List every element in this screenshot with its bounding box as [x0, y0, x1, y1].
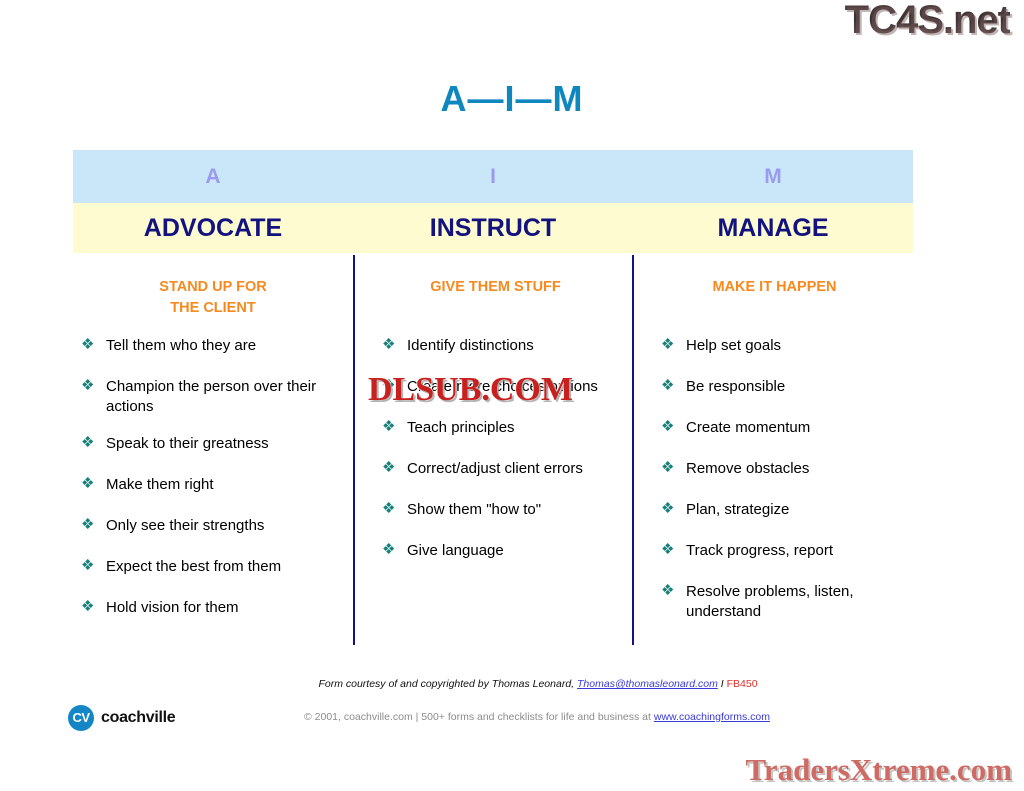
column-instruct-subheading-line1: GIVE THEM STUFF [359, 277, 632, 298]
list-item: ❖Hold vision for them [81, 598, 353, 618]
list-item-label: Expect the best from them [106, 558, 281, 575]
list-item: ❖Create momentum [661, 418, 911, 438]
footer-legal-text: © 2001, coachville.com | 500+ forms and … [304, 711, 654, 723]
list-item: ❖Plan, strategize [661, 500, 911, 520]
footer-credit-separator: I [718, 678, 727, 690]
footer-email-link[interactable]: Thomas@thomasleonard.com [577, 678, 718, 690]
footer-credit: Form courtesy of and copyrighted by Thom… [0, 678, 1024, 690]
diamond-bullet-icon: ❖ [661, 499, 674, 519]
diamond-bullet-icon: ❖ [81, 597, 94, 617]
banner-letter-m: M [633, 150, 913, 203]
list-item: ❖Be responsible [661, 377, 911, 397]
list-item-label: Create more choices/options [407, 378, 598, 395]
list-item-label: Show them "how to" [407, 501, 541, 518]
banner-word-instruct: INSTRUCT [353, 203, 633, 253]
watermark-tradersxtreme: TradersXtreme.com [745, 752, 1012, 788]
diamond-bullet-icon: ❖ [81, 376, 94, 396]
diamond-bullet-icon: ❖ [81, 556, 94, 576]
list-item-label: Champion the person over their actions [106, 378, 316, 415]
banner-letter-a: A [73, 150, 353, 203]
footer-credit-text: Form courtesy of and copyrighted by Thom… [318, 678, 577, 690]
list-item-label: Plan, strategize [686, 501, 789, 518]
coachville-logo: CV coachville [68, 705, 175, 731]
diamond-bullet-icon: ❖ [382, 417, 395, 437]
column-advocate-subheading: STAND UP FOR THE CLIENT [73, 255, 353, 319]
list-item-label: Teach principles [407, 419, 515, 436]
list-item: ❖Create more choices/options [382, 377, 632, 397]
list-item: ❖Tell them who they are [81, 336, 353, 356]
list-item-label: Track progress, report [686, 542, 833, 559]
column-manage-subheading: MAKE IT HAPPEN [634, 255, 911, 298]
list-item: ❖Teach principles [382, 418, 632, 438]
list-item-label: Make them right [106, 476, 214, 493]
diamond-bullet-icon: ❖ [661, 458, 674, 478]
site-brand-tc4s: TC4S.net [845, 0, 1010, 43]
list-item: ❖Give language [382, 541, 632, 561]
list-item: ❖Make them right [81, 475, 353, 495]
list-item-label: Identify distinctions [407, 337, 534, 354]
coachville-wordmark: coachville [101, 709, 175, 727]
diamond-bullet-icon: ❖ [81, 515, 94, 535]
list-item-label: Hold vision for them [106, 599, 239, 616]
banner-word-advocate: ADVOCATE [73, 203, 353, 253]
diamond-bullet-icon: ❖ [382, 499, 395, 519]
column-manage: MAKE IT HAPPEN ❖Help set goals ❖Be respo… [632, 255, 911, 645]
diamond-bullet-icon: ❖ [382, 376, 395, 396]
diamond-bullet-icon: ❖ [661, 376, 674, 396]
banner-letters-row: A I M [73, 150, 913, 203]
footer-coachingforms-link[interactable]: www.coachingforms.com [654, 711, 770, 723]
list-item-label: Give language [407, 542, 504, 559]
column-advocate-list: ❖Tell them who they are ❖Champion the pe… [73, 336, 353, 618]
diamond-bullet-icon: ❖ [81, 474, 94, 494]
list-item-label: Tell them who they are [106, 337, 256, 354]
content-columns: STAND UP FOR THE CLIENT ❖Tell them who t… [73, 255, 913, 645]
list-item-label: Be responsible [686, 378, 785, 395]
page-title: A—I—M [0, 78, 1024, 120]
column-instruct-list: ❖Identify distinctions ❖ ❖Create more ch… [355, 336, 632, 561]
column-manage-list: ❖Help set goals ❖Be responsible ❖Create … [634, 336, 911, 622]
list-item-label: Correct/adjust client errors [407, 460, 583, 477]
banner-letter-i: I [353, 150, 633, 203]
list-item: ❖Help set goals [661, 336, 911, 356]
list-item-label: Only see their strengths [106, 517, 264, 534]
list-item: ❖Remove obstacles [661, 459, 911, 479]
diamond-bullet-icon: ❖ [382, 458, 395, 478]
diamond-bullet-icon: ❖ [382, 335, 395, 355]
column-advocate: STAND UP FOR THE CLIENT ❖Tell them who t… [73, 255, 353, 645]
list-item: ❖Only see their strengths [81, 516, 353, 536]
column-manage-subheading-line1: MAKE IT HAPPEN [638, 277, 911, 298]
list-item: ❖Expect the best from them [81, 557, 353, 577]
list-item: ❖Speak to their greatness [81, 434, 353, 454]
diamond-bullet-icon: ❖ [661, 417, 674, 437]
list-item-label: Create momentum [686, 419, 810, 436]
banner-word-manage: MANAGE [633, 203, 913, 253]
diamond-bullet-icon: ❖ [661, 581, 674, 601]
list-item: ❖Correct/adjust client errors [382, 459, 632, 479]
diamond-bullet-icon: ❖ [382, 540, 395, 560]
list-item: ❖Champion the person over their actions [81, 377, 353, 417]
list-item-label: Speak to their greatness [106, 435, 269, 452]
column-advocate-subheading-line1: STAND UP FOR [73, 277, 353, 298]
list-item: ❖Resolve problems, listen, understand [661, 582, 911, 622]
banner-words-row: ADVOCATE INSTRUCT MANAGE [73, 203, 913, 253]
list-item-label: Help set goals [686, 337, 781, 354]
list-item-label: Resolve problems, listen, understand [686, 583, 854, 620]
diamond-bullet-icon: ❖ [81, 433, 94, 453]
column-instruct: GIVE THEM STUFF ❖Identify distinctions ❖… [353, 255, 632, 645]
list-item: ❖Identify distinctions [382, 336, 632, 356]
list-item-label: Remove obstacles [686, 460, 809, 477]
list-item: ❖Track progress, report [661, 541, 911, 561]
diamond-bullet-icon: ❖ [661, 540, 674, 560]
column-instruct-subheading: GIVE THEM STUFF [355, 255, 632, 298]
column-advocate-subheading-line2: THE CLIENT [73, 298, 353, 319]
list-item: ❖Show them "how to" [382, 500, 632, 520]
diamond-bullet-icon: ❖ [81, 335, 94, 355]
diamond-bullet-icon: ❖ [661, 335, 674, 355]
coachville-cv-icon: CV [68, 705, 94, 731]
footer-form-code: FB450 [727, 678, 758, 690]
